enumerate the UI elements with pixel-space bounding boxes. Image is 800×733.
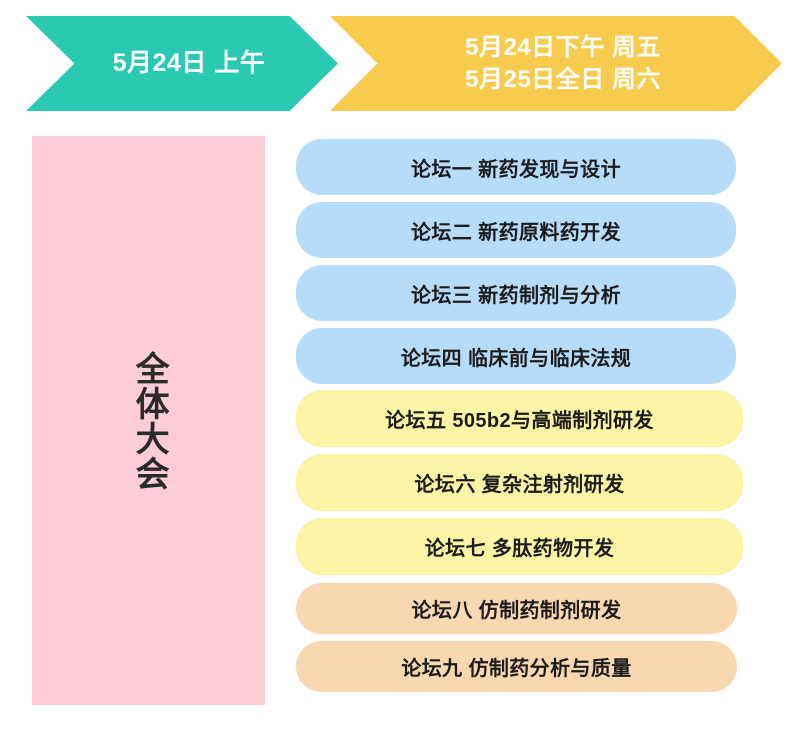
banner-morning-label: 5月24日 上午 (113, 50, 266, 78)
plenary-session-panel: 全体大会 (32, 136, 265, 705)
banner-row: 5月24日 上午 5月24日下午 周五 5月25日全日 周六 (0, 0, 800, 124)
forum-row: 论坛二 新药原料药开发 (296, 202, 736, 258)
forum-row: 论坛四 临床前与临床法规 (296, 328, 736, 384)
banner-afternoon-session: 5月24日下午 周五 5月25日全日 周六 (330, 16, 782, 111)
forum-label: 论坛八 仿制药制剂研发 (412, 594, 622, 623)
forum-label: 论坛七 多肽药物开发 (425, 532, 615, 561)
forum-label: 论坛四 临床前与临床法规 (401, 342, 631, 371)
forum-row: 论坛九 仿制药分析与质量 (296, 641, 737, 692)
forum-row: 论坛八 仿制药制剂研发 (296, 583, 737, 634)
forum-label: 论坛五 505b2与高端制剂研发 (385, 404, 654, 433)
forum-label: 论坛三 新药制剂与分析 (411, 279, 621, 308)
banner-morning-session: 5月24日 上午 (26, 16, 338, 111)
forum-list: 论坛一 新药发现与设计论坛二 新药原料药开发论坛三 新药制剂与分析论坛四 临床前… (296, 136, 756, 705)
forum-row: 论坛六 复杂注射剂研发 (296, 454, 743, 511)
forum-label: 论坛六 复杂注射剂研发 (415, 468, 625, 497)
banner-afternoon-line-1: 5月24日下午 周五 (465, 32, 661, 64)
forum-row: 论坛三 新药制剂与分析 (296, 265, 736, 321)
forum-label: 论坛九 仿制药分析与质量 (401, 652, 631, 681)
conference-agenda-poster: 5月24日 上午 5月24日下午 周五 5月25日全日 周六 全体大会 论坛一 … (0, 0, 800, 733)
plenary-session-title: 全体大会 (115, 351, 182, 491)
forum-row: 论坛七 多肽药物开发 (296, 518, 743, 575)
forum-label: 论坛一 新药发现与设计 (411, 153, 621, 182)
forum-row: 论坛五 505b2与高端制剂研发 (296, 390, 743, 447)
forum-label: 论坛二 新药原料药开发 (411, 216, 621, 245)
banner-afternoon-line-2: 5月25日全日 周六 (465, 64, 661, 96)
forum-row: 论坛一 新药发现与设计 (296, 139, 736, 195)
